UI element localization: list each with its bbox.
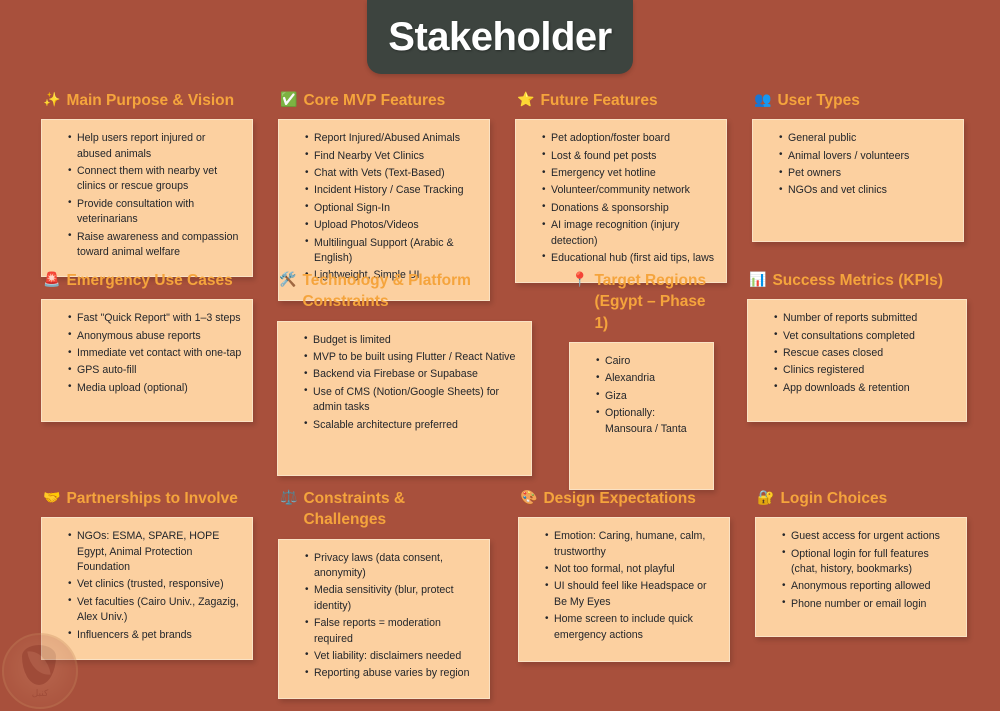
section-title: Design Expectations (543, 488, 730, 509)
list-item: Privacy laws (data consent, anonymity) (305, 551, 479, 582)
list-item: Pet owners (779, 166, 953, 181)
section-constraints-challenges: ⚖️ Constraints & Challenges Privacy laws… (268, 488, 500, 699)
section-login-choices: 🔐 Login Choices Guest access for urgent … (745, 488, 977, 637)
list-item: Optional Sign-In (305, 201, 479, 216)
section-heading: 🚨 Emergency Use Cases (41, 270, 253, 291)
list-item: Use of CMS (Notion/Google Sheets) for ad… (304, 385, 521, 416)
section-future-features: ⭐ Future Features Pet adoption/foster bo… (505, 90, 737, 283)
section-list: Report Injured/Abused AnimalsFind Nearby… (285, 131, 479, 283)
list-item: Find Nearby Vet Clinics (305, 149, 479, 164)
list-item: NGOs: ESMA, SPARE, HOPE Egypt, Animal Pr… (68, 529, 242, 575)
busts-in-silhouette-icon: 👥 (754, 90, 771, 110)
list-item: Report Injured/Abused Animals (305, 131, 479, 146)
section-title: Target Regions (Egypt – Phase 1) (594, 270, 714, 334)
list-item: Anonymous reporting allowed (782, 579, 956, 594)
section-card: Privacy laws (data consent, anonymity)Me… (278, 539, 490, 699)
section-heading: 📍 Target Regions (Egypt – Phase 1) (569, 270, 714, 334)
list-item: Chat with Vets (Text-Based) (305, 166, 479, 181)
section-heading: ⭐ Future Features (515, 90, 727, 111)
list-item: Home screen to include quick emergency a… (545, 612, 719, 643)
section-title: Emergency Use Cases (66, 270, 253, 291)
list-item: Giza (596, 389, 703, 404)
list-item: Volunteer/community network (542, 183, 716, 198)
section-title: Constraints & Challenges (303, 488, 490, 531)
list-item: Cairo (596, 354, 703, 369)
list-item: Raise awareness and compassion toward an… (68, 230, 242, 261)
section-card: Guest access for urgent actionsOptional … (755, 517, 967, 637)
list-item: Vet liability: disclaimers needed (305, 649, 479, 664)
section-list: Privacy laws (data consent, anonymity)Me… (285, 551, 479, 682)
list-item: Reporting abuse varies by region (305, 666, 479, 681)
section-heading: 📊 Success Metrics (KPIs) (747, 270, 967, 291)
section-card: General publicAnimal lovers / volunteers… (752, 119, 964, 242)
section-heading: ✅ Core MVP Features (278, 90, 490, 111)
list-item: Donations & sponsorship (542, 201, 716, 216)
section-user-types: 👥 User Types General publicAnimal lovers… (742, 90, 974, 242)
section-card: Pet adoption/foster boardLost & found pe… (515, 119, 727, 283)
list-item: UI should feel like Headspace or Be My E… (545, 579, 719, 610)
stakeholder-board: ✨ Main Purpose & Vision Help users repor… (0, 78, 1000, 711)
section-card: NGOs: ESMA, SPARE, HOPE Egypt, Animal Pr… (41, 517, 253, 660)
section-title: Main Purpose & Vision (66, 90, 253, 111)
title-banner: Stakeholder (0, 0, 1000, 78)
section-heading: ⚖️ Constraints & Challenges (278, 488, 490, 531)
list-item: General public (779, 131, 953, 146)
list-item: Phone number or email login (782, 597, 956, 612)
list-item: Rescue cases closed (774, 346, 956, 361)
section-target-regions: 📍 Target Regions (Egypt – Phase 1) Cairo… (559, 270, 724, 490)
list-item: Immediate vet contact with one-tap (68, 346, 242, 361)
list-item: Not too formal, not playful (545, 562, 719, 577)
list-item: Animal lovers / volunteers (779, 149, 953, 164)
list-item: Budget is limited (304, 333, 521, 348)
section-card: Emotion: Caring, humane, calm, trustwort… (518, 517, 730, 662)
section-technology-platform-constraints: 🛠️ Technology & Platform Constraints Bud… (267, 270, 542, 476)
section-heading: 🛠️ Technology & Platform Constraints (277, 270, 532, 313)
list-item: Backend via Firebase or Supabase (304, 367, 521, 382)
title-chip: Stakeholder (367, 0, 633, 74)
section-main-purpose-vision: ✨ Main Purpose & Vision Help users repor… (31, 90, 263, 277)
section-heading: ✨ Main Purpose & Vision (41, 90, 253, 111)
bar-chart-icon: 📊 (749, 270, 766, 290)
section-card: CairoAlexandriaGizaOptionally: Mansoura … (569, 342, 714, 490)
section-title: Success Metrics (KPIs) (772, 270, 967, 291)
list-item: False reports = moderation required (305, 616, 479, 647)
check-mark-icon: ✅ (280, 90, 297, 110)
section-heading: 🤝 Partnerships to Involve (41, 488, 253, 509)
list-item: Incident History / Case Tracking (305, 183, 479, 198)
list-item: NGOs and vet clinics (779, 183, 953, 198)
section-heading: 🔐 Login Choices (755, 488, 967, 509)
section-title: Future Features (540, 90, 727, 111)
hammer-and-wrench-icon: 🛠️ (279, 270, 296, 290)
list-item: Pet adoption/foster board (542, 131, 716, 146)
list-item: Media upload (optional) (68, 381, 242, 396)
list-item: Vet faculties (Cairo Univ., Zagazig, Ale… (68, 595, 242, 626)
section-list: Emotion: Caring, humane, calm, trustwort… (525, 529, 719, 643)
list-item: Alexandria (596, 371, 703, 386)
section-title: Login Choices (780, 488, 967, 509)
section-partnerships-to-involve: 🤝 Partnerships to Involve NGOs: ESMA, SP… (31, 488, 263, 660)
list-item: Optional login for full features (chat, … (782, 547, 956, 578)
watermark-text: كنبل (4, 689, 76, 699)
section-emergency-use-cases: 🚨 Emergency Use Cases Fast "Quick Report… (31, 270, 263, 422)
list-item: Clinics registered (774, 363, 956, 378)
list-item: Lost & found pet posts (542, 149, 716, 164)
section-list: Pet adoption/foster boardLost & found pe… (522, 131, 716, 266)
balance-scale-icon: ⚖️ (280, 488, 297, 508)
watermark-logo: كنبل (2, 633, 78, 709)
section-card: Number of reports submittedVet consultat… (747, 299, 967, 422)
list-item: MVP to be built using Flutter / React Na… (304, 350, 521, 365)
list-item: Educational hub (first aid tips, laws (542, 251, 716, 266)
section-card: Budget is limitedMVP to be built using F… (277, 321, 532, 476)
list-item: Upload Photos/Videos (305, 218, 479, 233)
list-item: Provide consultation with veterinarians (68, 197, 242, 228)
list-item: Number of reports submitted (774, 311, 956, 326)
list-item: Media sensitivity (blur, protect identit… (305, 583, 479, 614)
section-heading: 👥 User Types (752, 90, 964, 111)
section-title: Partnerships to Involve (66, 488, 253, 509)
list-item: Fast "Quick Report" with 1–3 steps (68, 311, 242, 326)
section-heading: 🎨 Design Expectations (518, 488, 730, 509)
list-item: AI image recognition (injury detection) (542, 218, 716, 249)
board-row-2: 🚨 Emergency Use Cases Fast "Quick Report… (0, 270, 1000, 490)
section-list: Guest access for urgent actionsOptional … (762, 529, 956, 612)
sparkles-icon: ✨ (43, 90, 60, 110)
list-item: Guest access for urgent actions (782, 529, 956, 544)
locked-with-key-icon: 🔐 (757, 488, 774, 508)
list-item: Multilingual Support (Arabic & English) (305, 236, 479, 267)
section-list: General publicAnimal lovers / volunteers… (759, 131, 953, 198)
list-item: Vet clinics (trusted, responsive) (68, 577, 242, 592)
section-list: Fast "Quick Report" with 1–3 stepsAnonym… (48, 311, 242, 396)
list-item: GPS auto-fill (68, 363, 242, 378)
list-item: Emotion: Caring, humane, calm, trustwort… (545, 529, 719, 560)
section-title: Core MVP Features (303, 90, 490, 111)
section-list: NGOs: ESMA, SPARE, HOPE Egypt, Animal Pr… (48, 529, 242, 643)
list-item: Emergency vet hotline (542, 166, 716, 181)
section-card: Fast "Quick Report" with 1–3 stepsAnonym… (41, 299, 253, 422)
rotating-light-icon: 🚨 (43, 270, 60, 290)
list-item: Anonymous abuse reports (68, 329, 242, 344)
section-design-expectations: 🎨 Design Expectations Emotion: Caring, h… (508, 488, 740, 662)
star-icon: ⭐ (517, 90, 534, 110)
list-item: Vet consultations completed (774, 329, 956, 344)
list-item: Influencers & pet brands (68, 628, 242, 643)
page-title: Stakeholder (388, 17, 611, 57)
board-row-3: 🤝 Partnerships to Involve NGOs: ESMA, SP… (0, 488, 1000, 699)
list-item: Optionally: Mansoura / Tanta (596, 406, 703, 437)
artist-palette-icon: 🎨 (520, 488, 537, 508)
list-item: Connect them with nearby vet clinics or … (68, 164, 242, 195)
handshake-icon: 🤝 (43, 488, 60, 508)
round-pushpin-icon: 📍 (571, 270, 588, 290)
section-list: Budget is limitedMVP to be built using F… (284, 333, 521, 433)
section-title: Technology & Platform Constraints (302, 270, 532, 313)
list-item: App downloads & retention (774, 381, 956, 396)
section-list: CairoAlexandriaGizaOptionally: Mansoura … (576, 354, 703, 437)
section-list: Number of reports submittedVet consultat… (754, 311, 956, 396)
section-list: Help users report injured or abused anim… (48, 131, 242, 260)
section-title: User Types (777, 90, 964, 111)
section-card: Help users report injured or abused anim… (41, 119, 253, 277)
list-item: Scalable architecture preferred (304, 418, 521, 433)
section-success-metrics: 📊 Success Metrics (KPIs) Number of repor… (737, 270, 977, 422)
list-item: Help users report injured or abused anim… (68, 131, 242, 162)
